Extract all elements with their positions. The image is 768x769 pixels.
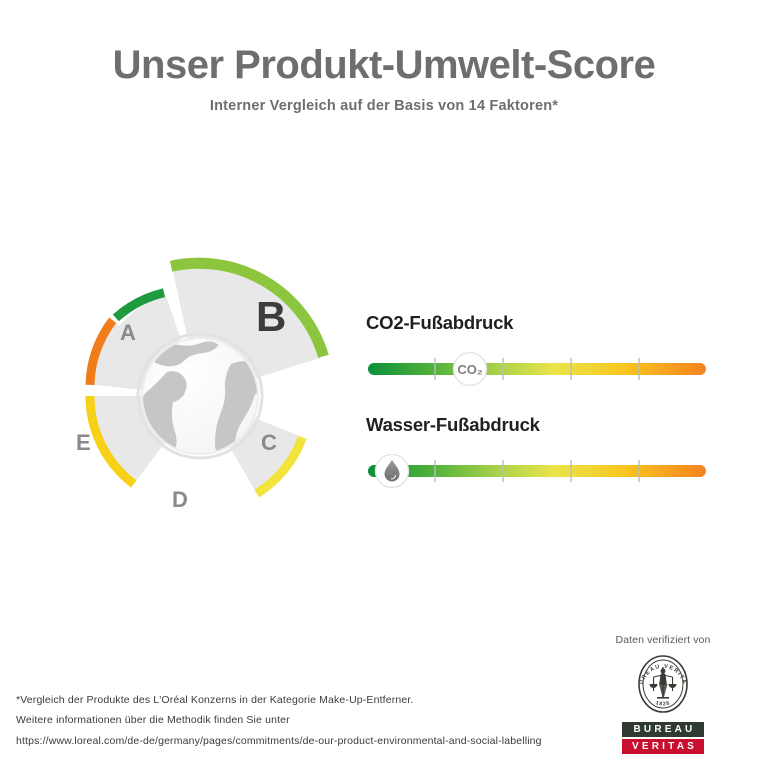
co2-footprint-block: CO2-Fußabdruck (366, 312, 714, 386)
wordmark-veritas: VERITAS (622, 739, 704, 754)
water-gauge[interactable] (366, 454, 714, 488)
footnote-line-3[interactable]: https://www.loreal.com/de-de/germany/pag… (16, 731, 542, 751)
wordmark-bureau: BUREAU (622, 722, 704, 737)
page-title: Unser Produkt-Umwelt-Score (0, 44, 768, 86)
footprint-panel: CO2-Fußabdruck (366, 312, 714, 516)
co2-gauge[interactable]: CO₂ (366, 352, 714, 386)
co2-gauge-bar (368, 363, 706, 375)
co2-marker-text: CO₂ (457, 362, 483, 377)
page-subtitle: Interner Vergleich auf der Basis von 14 … (0, 98, 768, 114)
co2-footprint-label: CO2-Fußabdruck (366, 312, 714, 334)
grade-letter-b[interactable]: B (256, 293, 286, 340)
grade-letter-c[interactable]: C (261, 430, 277, 455)
footnote: *Vergleich der Produkte des L'Oréal Konz… (16, 690, 542, 751)
footnote-line-1: *Vergleich der Produkte des L'Oréal Konz… (16, 690, 542, 710)
co2-marker-icon[interactable]: CO₂ (454, 353, 487, 386)
water-footprint-label: Wasser-Fußabdruck (366, 414, 714, 436)
grade-letter-e[interactable]: E (76, 430, 91, 455)
bureau-veritas-wordmark: BUREAU VERITAS (622, 722, 704, 754)
water-gauge-bar (368, 465, 706, 477)
bureau-veritas-logo: BUREAU VERITAS 1828 BUREAU VERITAS (622, 653, 704, 754)
water-drop-marker-icon[interactable] (376, 455, 409, 488)
verified-by-text: Daten verifiziert von (588, 634, 738, 646)
water-footprint-block: Wasser-Fußabdruck (366, 414, 714, 488)
footnote-line-2: Weitere informationen über die Methodik … (16, 710, 542, 730)
score-wheel: A B C D E (45, 235, 355, 545)
grade-letter-d[interactable]: D (172, 487, 188, 512)
verification-block: Daten verifiziert von BUREAU VERITAS 182… (588, 634, 738, 754)
header: Unser Produkt-Umwelt-Score Interner Verg… (0, 44, 768, 114)
bureau-veritas-seal-icon: BUREAU VERITAS 1828 (632, 653, 694, 715)
grade-letter-a[interactable]: A (120, 320, 136, 345)
